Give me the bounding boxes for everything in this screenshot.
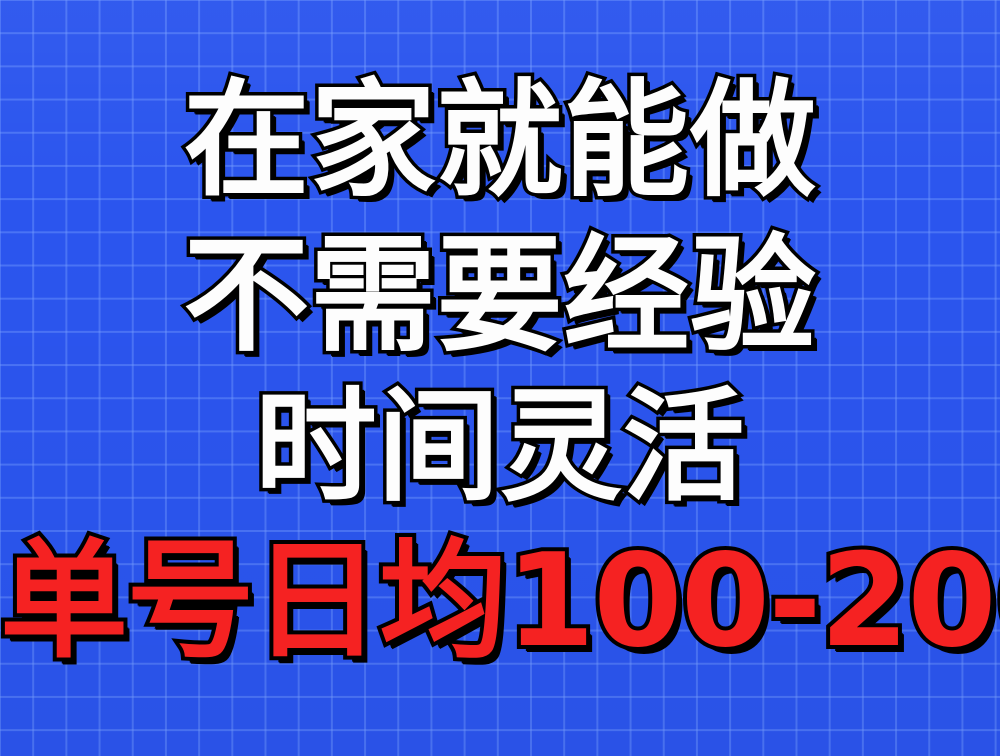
promo-poster: 在家就能做 不需要经验 时间灵活 单号日均100-200 xyxy=(0,0,1000,756)
headline-line-1: 在家就能做 xyxy=(0,78,1000,204)
headline-line-4-earnings: 单号日均100-200 xyxy=(0,538,1000,666)
headline-line-2: 不需要经验 xyxy=(0,233,1000,359)
headline-text-stack: 在家就能做 不需要经验 时间灵活 单号日均100-200 xyxy=(0,0,1000,756)
headline-line-3: 时间灵活 xyxy=(0,386,1000,508)
